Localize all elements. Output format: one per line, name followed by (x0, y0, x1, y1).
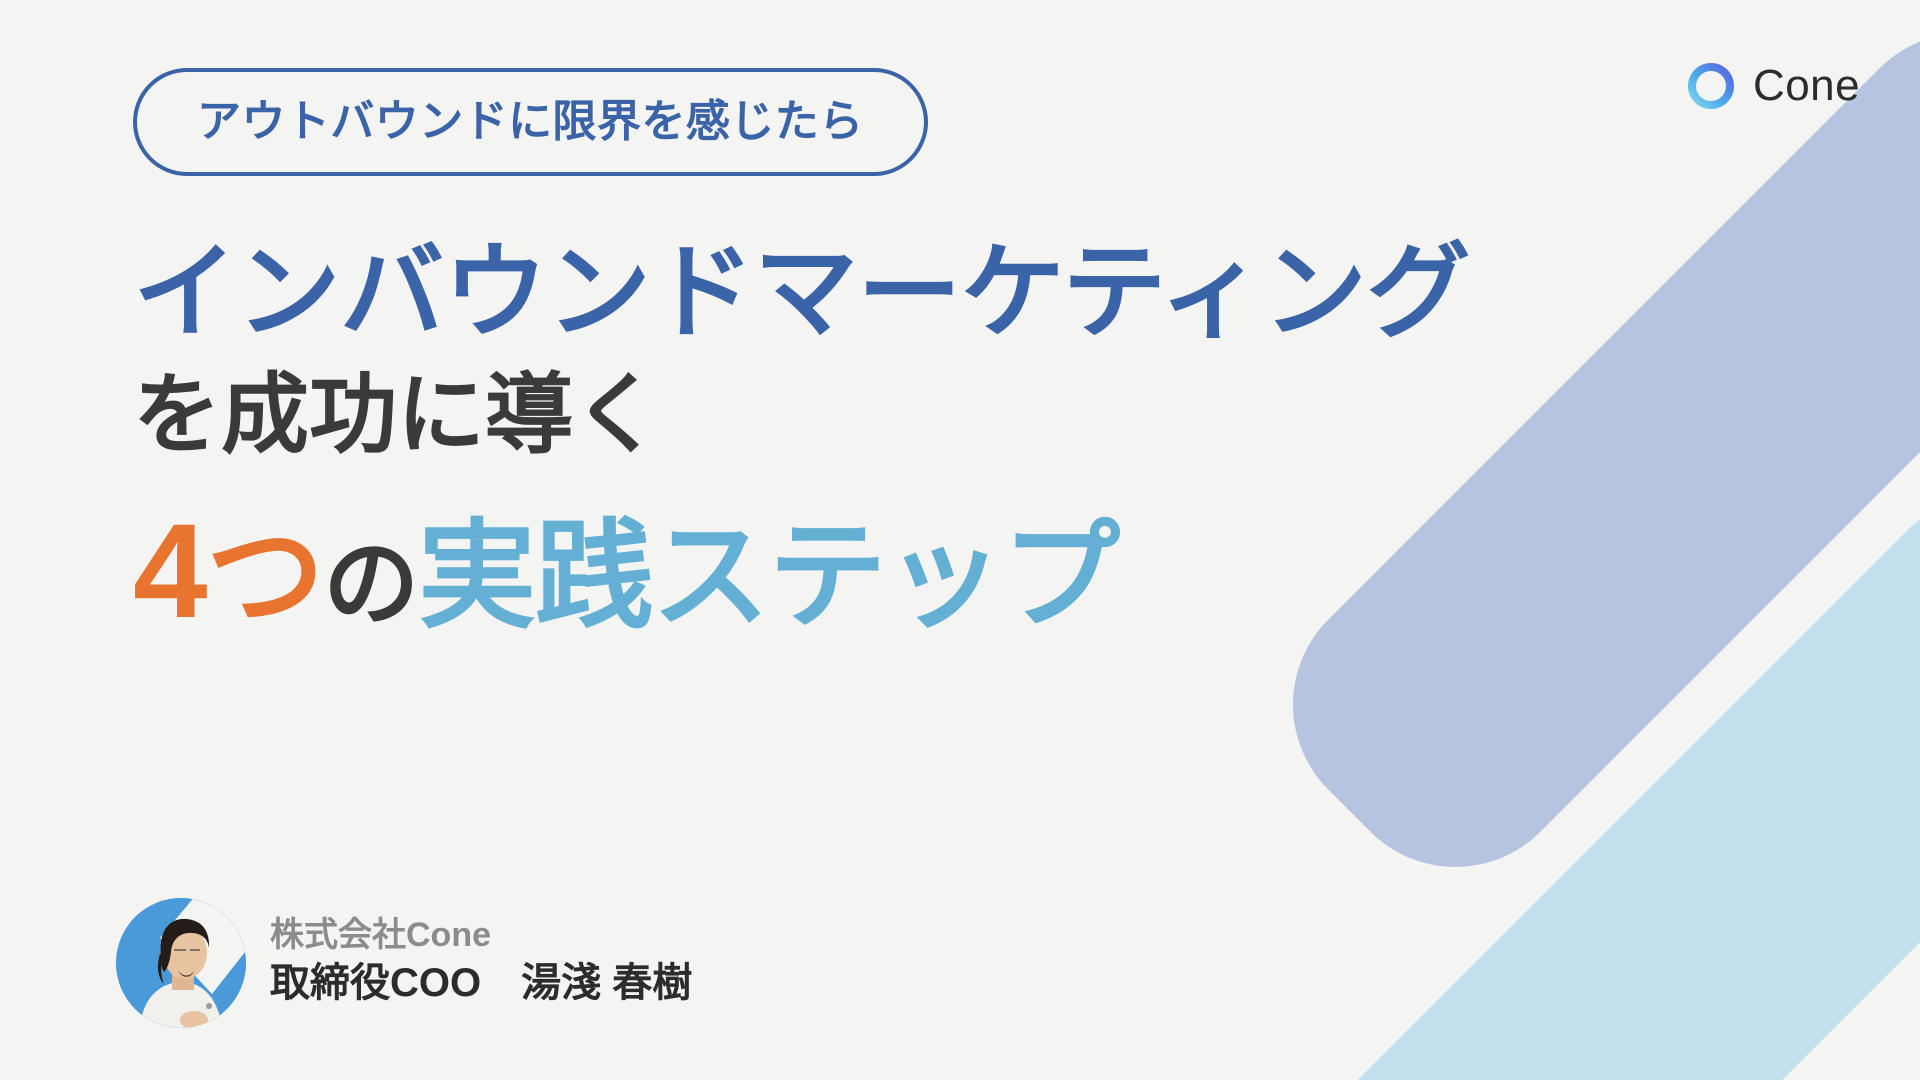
title-slide: アウトバウンドに限界を感じたら Cone インバウンドマーケティング を成功に導… (0, 0, 1920, 1080)
presenter-block: 株式会社Cone 取締役COO 湯淺 春樹 (116, 898, 692, 1028)
headline-counter-suffix: つ (206, 511, 323, 643)
headline-line-2: を成功に導く (133, 363, 1693, 467)
headline-line-3: 4つの実践ステップ (133, 493, 1693, 651)
presenter-company: 株式会社Cone (270, 917, 692, 954)
eyebrow-badge: アウトバウンドに限界を感じたら (133, 68, 928, 176)
brand-name: Cone (1753, 64, 1860, 108)
presenter-text: 株式会社Cone 取締役COO 湯淺 春樹 (270, 917, 692, 1008)
headline-steps-phrase: 実践ステップ (418, 511, 1119, 643)
brand-lockup: Cone (1685, 60, 1860, 112)
avatar (116, 898, 246, 1028)
presenter-name: 取締役COO 湯淺 春樹 (270, 961, 692, 1005)
headline-step-count: 4 (133, 497, 206, 646)
headline-particle: の (323, 531, 418, 638)
page-title: インバウンドマーケティング を成功に導く 4つの実践ステップ (133, 232, 1693, 651)
cone-ring-logo-icon (1685, 60, 1737, 112)
eyebrow-badge-label: アウトバウンドに限界を感じたら (197, 100, 864, 144)
headline-line-1: インバウンドマーケティング (133, 232, 1693, 355)
